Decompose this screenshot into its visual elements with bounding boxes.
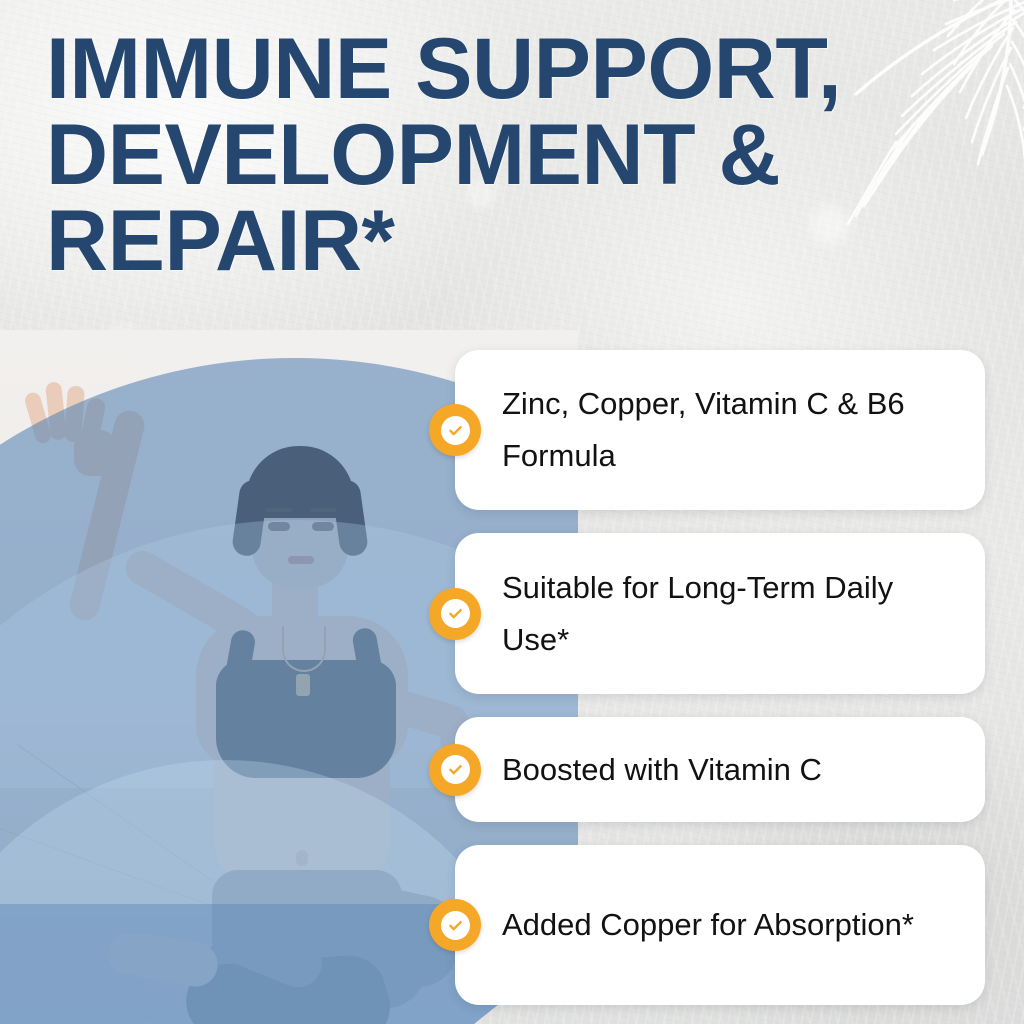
- feature-card[interactable]: Boosted with Vitamin C: [455, 717, 985, 822]
- check-circle-icon: [429, 404, 481, 456]
- feature-card[interactable]: Suitable for Long-Term Daily Use*: [455, 533, 985, 694]
- feature-card[interactable]: Zinc, Copper, Vitamin C & B6 Formula: [455, 350, 985, 510]
- feature-card[interactable]: Added Copper for Absorption*: [455, 845, 985, 1005]
- check-circle-icon: [429, 588, 481, 640]
- check-circle-icon: [429, 899, 481, 951]
- product-infographic: IMMUNE SUPPORT, DEVELOPMENT & REPAIR*: [0, 0, 1024, 1024]
- feature-card-label: Added Copper for Absorption*: [455, 899, 940, 951]
- feature-card-label: Zinc, Copper, Vitamin C & B6 Formula: [455, 378, 985, 482]
- feature-card-label: Suitable for Long-Term Daily Use*: [455, 562, 985, 666]
- feature-card-label: Boosted with Vitamin C: [455, 744, 848, 796]
- check-circle-icon: [429, 744, 481, 796]
- page-title: IMMUNE SUPPORT, DEVELOPMENT & REPAIR*: [46, 26, 926, 284]
